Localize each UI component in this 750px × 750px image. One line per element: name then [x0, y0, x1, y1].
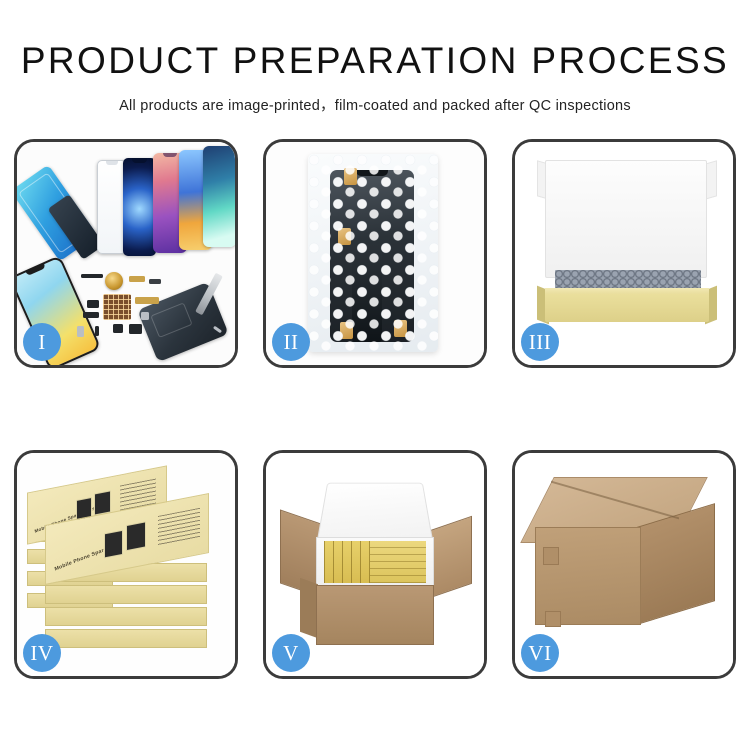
- process-step-panel-2[interactable]: II: [263, 139, 487, 368]
- carton-tape-upper: [543, 547, 559, 565]
- phone-display-blue: [123, 158, 156, 256]
- process-step-panel-4[interactable]: Mobile Phone Spare Parts Mobile Phone Sp…: [14, 450, 238, 679]
- process-step-grid: I II: [14, 139, 736, 679]
- page-header: PRODUCT PREPARATION PROCESS All products…: [0, 0, 750, 115]
- bracket-part: [83, 312, 99, 318]
- process-step-panel-6[interactable]: VI: [512, 450, 736, 679]
- stacked-box-fr-4: [45, 629, 207, 648]
- phone-display-teal2: [203, 146, 235, 247]
- panel-5-step-badge: V: [272, 634, 310, 672]
- gold-connector-part: [129, 276, 145, 282]
- camera-module-part: [87, 300, 99, 308]
- process-step-panel-3[interactable]: III: [512, 139, 736, 368]
- process-step-panel-5[interactable]: V: [263, 450, 487, 679]
- panel-3-step-badge: III: [521, 323, 559, 361]
- panel-1-step-badge: I: [23, 323, 61, 361]
- box-print-text-front: [158, 508, 200, 546]
- box-lid-back: [545, 160, 707, 278]
- box-print-thumb-front-1: [104, 530, 123, 559]
- box-print-thumb-front-2: [126, 521, 146, 551]
- button-part: [95, 326, 99, 336]
- flex-cable-part: [135, 297, 159, 304]
- stacked-box-fr-2: [45, 585, 207, 604]
- speaker-coil-part: [105, 272, 123, 290]
- speaker-part: [129, 324, 142, 334]
- panel-6-step-badge: VI: [521, 634, 559, 672]
- earpiece-mesh-part: [81, 274, 103, 278]
- panel-2-step-badge: II: [272, 323, 310, 361]
- bubble-wrap-bag: [308, 154, 438, 352]
- carton-front-panel: [316, 585, 434, 645]
- carton-tape-lower: [545, 611, 561, 627]
- page-subtitle: All products are image-printed，film-coat…: [0, 94, 750, 115]
- screw-set-part: [141, 312, 149, 320]
- panel-4-step-badge: IV: [23, 634, 61, 672]
- stacked-box-fr-3: [45, 607, 207, 626]
- sim-tray-part: [77, 326, 84, 337]
- page-title: PRODUCT PREPARATION PROCESS: [0, 42, 750, 79]
- small-flex-part: [149, 279, 161, 284]
- inner-boxes-row-2: [370, 541, 426, 583]
- logic-board-part: [103, 294, 131, 320]
- box-front-panel: [545, 294, 709, 322]
- vibrator-part: [113, 324, 123, 333]
- process-step-panel-1[interactable]: I: [14, 139, 238, 368]
